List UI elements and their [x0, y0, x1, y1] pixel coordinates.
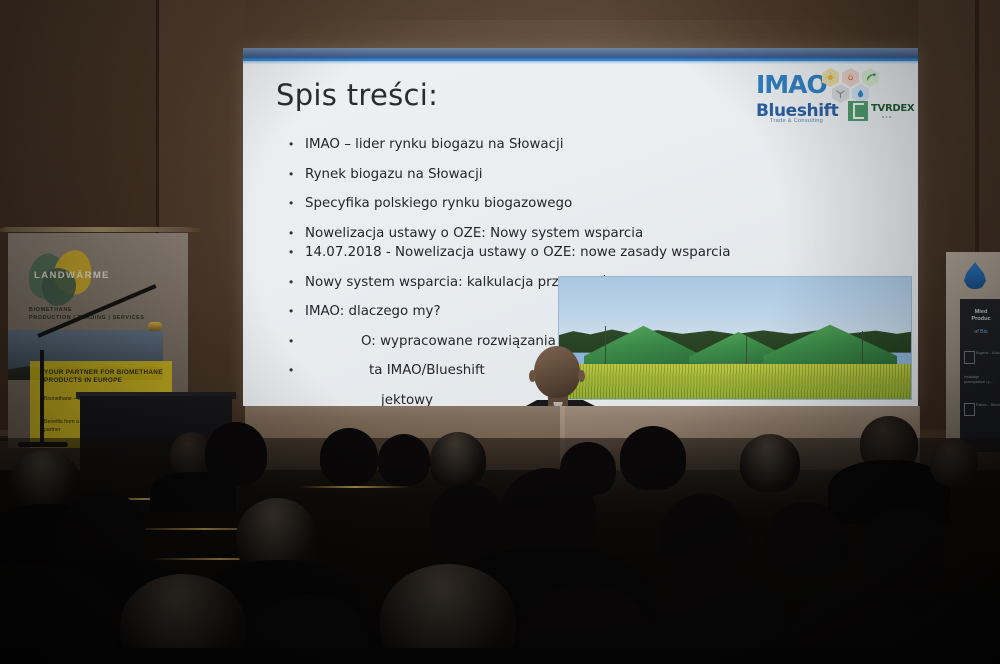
- bullet-text: IMAO: dlaczego my?: [305, 303, 441, 320]
- presenter-ear: [529, 370, 536, 382]
- audience-head: [0, 568, 120, 664]
- audience-head: [120, 574, 246, 664]
- audience-front-row-shoulders: [0, 648, 1000, 664]
- chair-back-highlight: [150, 558, 290, 560]
- presenter-head: [534, 346, 580, 398]
- conference-photo: Spis treści: • IMAO – lider rynku biogaz…: [0, 0, 1000, 664]
- mast: [862, 331, 863, 365]
- slide-header-band: [243, 48, 918, 64]
- sun-icon: [822, 68, 839, 87]
- slide-title: Spis treści:: [276, 78, 438, 112]
- audience-head: [60, 490, 146, 576]
- mic-stand-base: [18, 442, 68, 447]
- banner-headline: YOUR PARTNER FOR BIOMETHANE PRODUCTS IN …: [44, 369, 164, 385]
- list-item: • Specyfika polskiego rynku biogazowego: [285, 195, 885, 212]
- bullet-marker: •: [285, 136, 305, 153]
- bullet-text: Nowelizacja ustawy o OZE: Nowy system ws…: [305, 225, 643, 242]
- bullet-marker: •: [285, 303, 305, 320]
- flame-icon: [842, 68, 859, 87]
- banner-right: Mied Produc of Bio Kogene... Auto... Ins…: [946, 252, 1000, 452]
- bullet-text: Specyfika polskiego rynku biogazowego: [305, 195, 572, 212]
- blueshift-tagline: Trade & Consulting: [770, 118, 823, 124]
- chair-back-highlight: [85, 498, 205, 500]
- list-item: • IMAO – lider rynku biogazu na Słowacji: [285, 136, 885, 153]
- presenter: [496, 346, 624, 406]
- wall-light-pool-right: [560, 406, 920, 526]
- audience-head: [906, 598, 1000, 664]
- bullet-marker: •: [285, 333, 305, 350]
- banner-right-line-2: Produc: [964, 316, 998, 322]
- audience-head: [790, 588, 918, 664]
- mast: [746, 333, 747, 365]
- audience-shoulders: [150, 472, 236, 512]
- bullet-text: jektowy: [305, 392, 433, 407]
- lectern: [80, 396, 232, 476]
- banner-right-item: Paliwo... Bioma...: [976, 403, 1000, 408]
- audience-head: [650, 576, 790, 664]
- chair-back-highlight: [130, 528, 280, 530]
- mic-stand: [40, 350, 44, 446]
- audience-shoulders: [22, 558, 190, 644]
- audience-head: [250, 594, 368, 664]
- list-item: • Rynek biogazu na Słowacji: [285, 166, 885, 183]
- banner-right-line-3: of Bio: [964, 329, 998, 335]
- slide-logo-group: IMAO Blueshift Trade & Consul: [756, 68, 902, 130]
- audience-shoulders: [452, 546, 648, 646]
- document-icon: [964, 351, 975, 364]
- bullet-text: ta IMAO/Blueshift: [305, 362, 485, 379]
- tvrdex-mark-icon: [848, 101, 868, 121]
- audience-shoulders: [0, 504, 108, 564]
- bullet-marker: •: [285, 274, 305, 291]
- landwarme-logo-icon: LANDWÄRME: [28, 250, 100, 302]
- tvrdex-tagline: s.r.o.: [882, 114, 893, 119]
- audience-shoulders: [200, 560, 360, 650]
- bullet-marker: •: [285, 225, 305, 242]
- water-drop-icon: [964, 262, 986, 289]
- banner-line-1: BIOMETHANE: [29, 307, 72, 313]
- audience-head: [520, 584, 652, 664]
- plant-icon: [964, 403, 975, 416]
- list-item: • 14.07.2018 - Nowelizacja ustawy o OZE:…: [285, 244, 885, 261]
- bullet-marker: •: [285, 244, 305, 261]
- tvrdex-logo: TVRDEX s.r.o.: [848, 101, 902, 123]
- bullet-text: 14.07.2018 - Nowelizacja ustawy o OZE: n…: [305, 244, 730, 261]
- bullet-text: IMAO – lider rynku biogazu na Słowacji: [305, 136, 563, 153]
- banner-right-panel: Mied Produc of Bio Kogene... Auto... Ins…: [960, 299, 1000, 452]
- audience-head: [236, 498, 318, 578]
- banner-right-item: Instalacje przemysłowe i p...: [964, 375, 996, 385]
- bullet-marker: •: [285, 166, 305, 183]
- wall-light-pool-left: [245, 406, 565, 496]
- bullet-text: Rynek biogazu na Słowacji: [305, 166, 483, 183]
- mic-head-icon: [148, 322, 162, 331]
- imao-logo-text: IMAO: [756, 70, 827, 99]
- presenter-ear: [578, 370, 585, 382]
- banner-top-rail: [4, 227, 192, 232]
- banner-right-line-1: Mied: [964, 309, 998, 315]
- baseboard-right: [930, 600, 1000, 606]
- banner-right-item: Kogene... Auto...: [976, 351, 1000, 356]
- projection-screen: Spis treści: • IMAO – lider rynku biogaz…: [243, 48, 918, 406]
- hexagon-icon-grid: [822, 68, 880, 102]
- landwarme-logo-text: LANDWÄRME: [34, 270, 110, 281]
- tvrdex-logo-text: TVRDEX: [871, 103, 914, 114]
- list-item: • Nowelizacja ustawy o OZE: Nowy system …: [285, 225, 885, 242]
- bullet-marker: •: [285, 362, 305, 379]
- leaf-icon: [862, 68, 879, 87]
- audience-head: [380, 564, 516, 664]
- bullet-marker: •: [285, 195, 305, 212]
- chair-back-highlight: [455, 526, 575, 528]
